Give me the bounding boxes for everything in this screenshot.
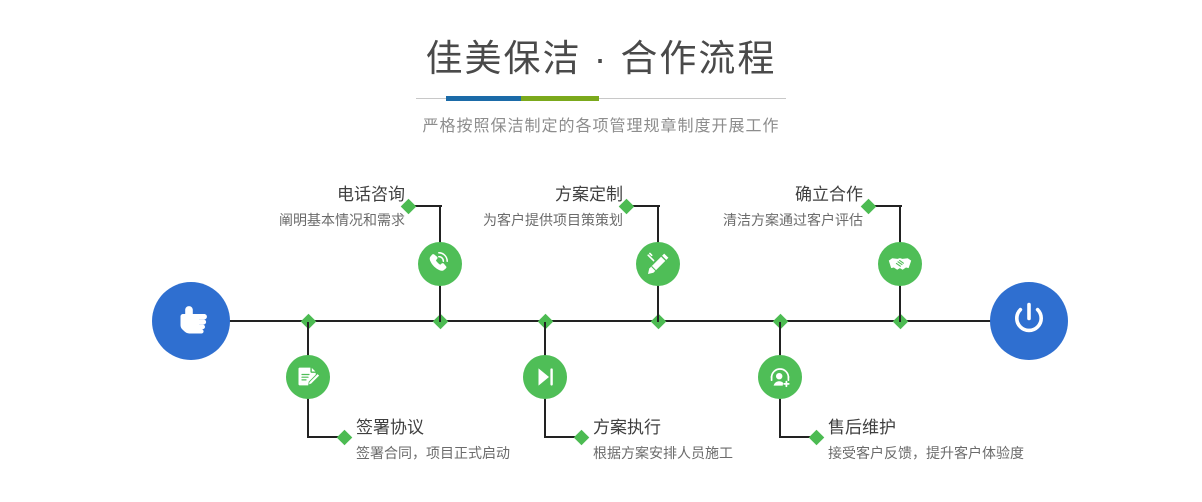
- step-label-6: 售后维护 接受客户反馈，提升客户体验度: [828, 417, 1198, 463]
- step-title-5: 确立合作: [530, 184, 863, 207]
- page-subtitle: 严格按照保洁制定的各项管理规章制度开展工作: [0, 101, 1202, 136]
- step-title-6: 售后维护: [828, 417, 1198, 440]
- step-node-5[interactable]: [878, 242, 922, 286]
- play-next-icon: [532, 364, 558, 390]
- step-node-1[interactable]: [418, 242, 462, 286]
- title-divider: [416, 96, 786, 101]
- step-node-3[interactable]: [636, 242, 680, 286]
- step-node-4[interactable]: [523, 355, 567, 399]
- contract-edit-icon: [295, 364, 321, 390]
- timeline: 电话咨询 阐明基本情况和需求 签署协议: [0, 160, 1202, 502]
- step-node-2[interactable]: [286, 355, 330, 399]
- pencil-ruler-icon: [645, 251, 671, 277]
- step-subtitle-5: 清洁方案通过客户评估: [530, 207, 863, 230]
- step-subtitle-6: 接受客户反馈，提升客户体验度: [828, 440, 1198, 463]
- phone-call-icon: [427, 251, 453, 277]
- pointing-hand-icon: [169, 297, 213, 346]
- header: 佳美保洁 · 合作流程 严格按照保洁制定的各项管理规章制度开展工作: [0, 0, 1202, 136]
- divider-segment-green: [521, 96, 599, 101]
- step-node-6[interactable]: [758, 355, 802, 399]
- flow-diagram-page: 佳美保洁 · 合作流程 严格按照保洁制定的各项管理规章制度开展工作: [0, 0, 1202, 502]
- step-label-5: 确立合作 清洁方案通过客户评估: [530, 184, 863, 230]
- handshake-icon: [887, 251, 913, 277]
- timeline-end-node[interactable]: [990, 282, 1068, 360]
- page-title: 佳美保洁 · 合作流程: [0, 0, 1202, 82]
- divider-segment-blue: [446, 96, 521, 101]
- customer-service-add-icon: [767, 364, 793, 390]
- timeline-start-node[interactable]: [152, 282, 230, 360]
- label-marker-step-2: [336, 429, 352, 445]
- power-icon: [1006, 296, 1052, 347]
